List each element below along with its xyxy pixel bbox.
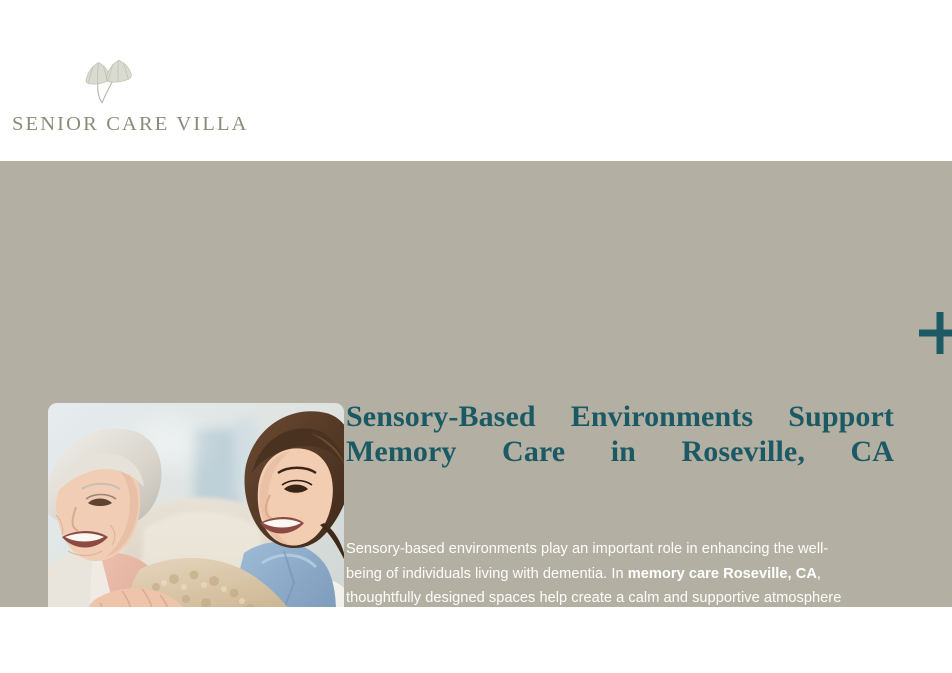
ginkgo-leaf-icon [78, 58, 144, 110]
brand-logo-link[interactable]: SENIOR CARE VILLA [12, 58, 212, 140]
hero-body-paragraph: Sensory-based environments play an impor… [346, 504, 844, 607]
page-footer-space [0, 607, 952, 673]
hero-section: Sensory-Based Environments Support Memor… [0, 161, 952, 607]
hero-body-highlight: memory care Roseville, CA [628, 566, 817, 582]
plus-icon-top-right [919, 312, 952, 354]
hero-text-block: Sensory-Based Environments Support Memor… [346, 399, 894, 607]
page-title: Sensory-Based Environments Support Memor… [346, 399, 894, 504]
brand-name: SENIOR CARE VILLA [12, 112, 249, 136]
hero-photo [48, 403, 344, 607]
site-header: SENIOR CARE VILLA [0, 0, 952, 161]
page-root: SENIOR CARE VILLA [0, 0, 952, 673]
